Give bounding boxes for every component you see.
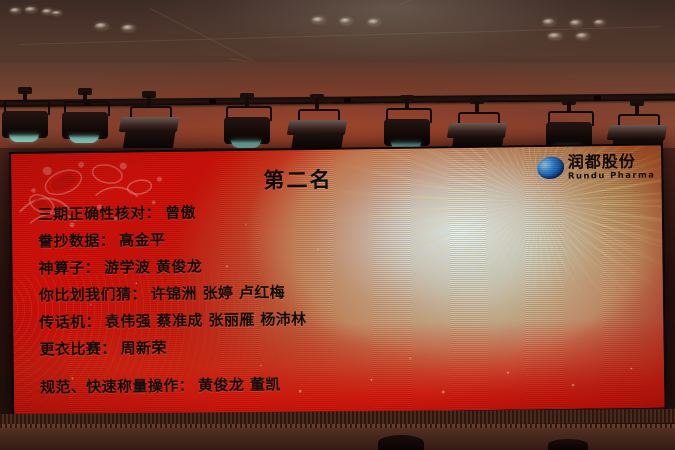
- photo-scene: 润都股份 Rundu Pharma 第二名 三期正确性核对：曾傲誊抄数据：高金平…: [0, 0, 675, 450]
- award-line-label: 更衣比赛：: [39, 340, 116, 359]
- ceiling-downlight-icon: [52, 11, 62, 15]
- award-line-names: 周新荣: [120, 339, 166, 358]
- ceiling-downlight-icon: [368, 19, 380, 25]
- ceiling-downlight-icon: [548, 33, 562, 39]
- ceiling-downlight-icon: [10, 8, 21, 13]
- slide-title: 第二名: [263, 164, 332, 195]
- award-line-names: 曾傲: [165, 204, 196, 222]
- screen-surface: 润都股份 Rundu Pharma 第二名 三期正确性核对：曾傲誊抄数据：高金平…: [11, 145, 664, 415]
- award-line-names: 游学波 黄俊龙: [104, 257, 202, 276]
- award-line-label: 你比划我们猜：: [39, 285, 147, 304]
- ceiling-downlight-icon: [576, 33, 589, 39]
- ceiling-downlight-icon: [312, 17, 325, 23]
- ceiling-downlight-icon: [570, 20, 582, 26]
- company-logo: 润都股份 Rundu Pharma: [537, 154, 656, 182]
- led-screen: 润都股份 Rundu Pharma 第二名 三期正确性核对：曾傲誊抄数据：高金平…: [9, 143, 666, 418]
- award-line-list: 三期正确性核对：曾傲誊抄数据：高金平神算子：游学波 黄俊龙你比划我们猜：许锦洲 …: [38, 194, 641, 402]
- award-line-names: 许锦洲 张婷 卢红梅: [151, 283, 286, 303]
- ceiling-downlight-icon: [543, 19, 555, 25]
- award-line-names: 高金平: [119, 231, 165, 250]
- ceiling-downlight-icon: [122, 25, 135, 31]
- logo-text: 润都股份 Rundu Pharma: [568, 154, 656, 182]
- ceiling-downlight-icon: [340, 18, 352, 24]
- award-line-label: 三期正确性核对：: [38, 204, 161, 224]
- award-line-label: 神算子：: [38, 259, 100, 278]
- ceiling-downlight-icon: [25, 7, 37, 12]
- logo-chinese-name: 润都股份: [568, 154, 656, 171]
- award-line: 规范、快速称量操作：黄俊龙 董凯: [40, 367, 640, 402]
- award-line-label: 传话机：: [39, 313, 101, 332]
- award-line-names: 黄俊龙 董凯: [198, 375, 281, 394]
- award-line-names: 袁伟强 蔡准成 张丽雁 杨沛林: [105, 310, 307, 331]
- stage-object: [548, 439, 588, 450]
- logo-english-name: Rundu Pharma: [568, 172, 655, 182]
- award-line-label: 誊抄数据：: [38, 232, 115, 251]
- ceiling-downlight-icon: [594, 20, 605, 25]
- ceiling-downlight-icon: [95, 23, 108, 29]
- stage-floor: [0, 424, 675, 450]
- stage-object: [378, 435, 424, 450]
- rundu-logo-mark-icon: [535, 154, 566, 181]
- award-line-label: 规范、快速称量操作：: [40, 377, 194, 397]
